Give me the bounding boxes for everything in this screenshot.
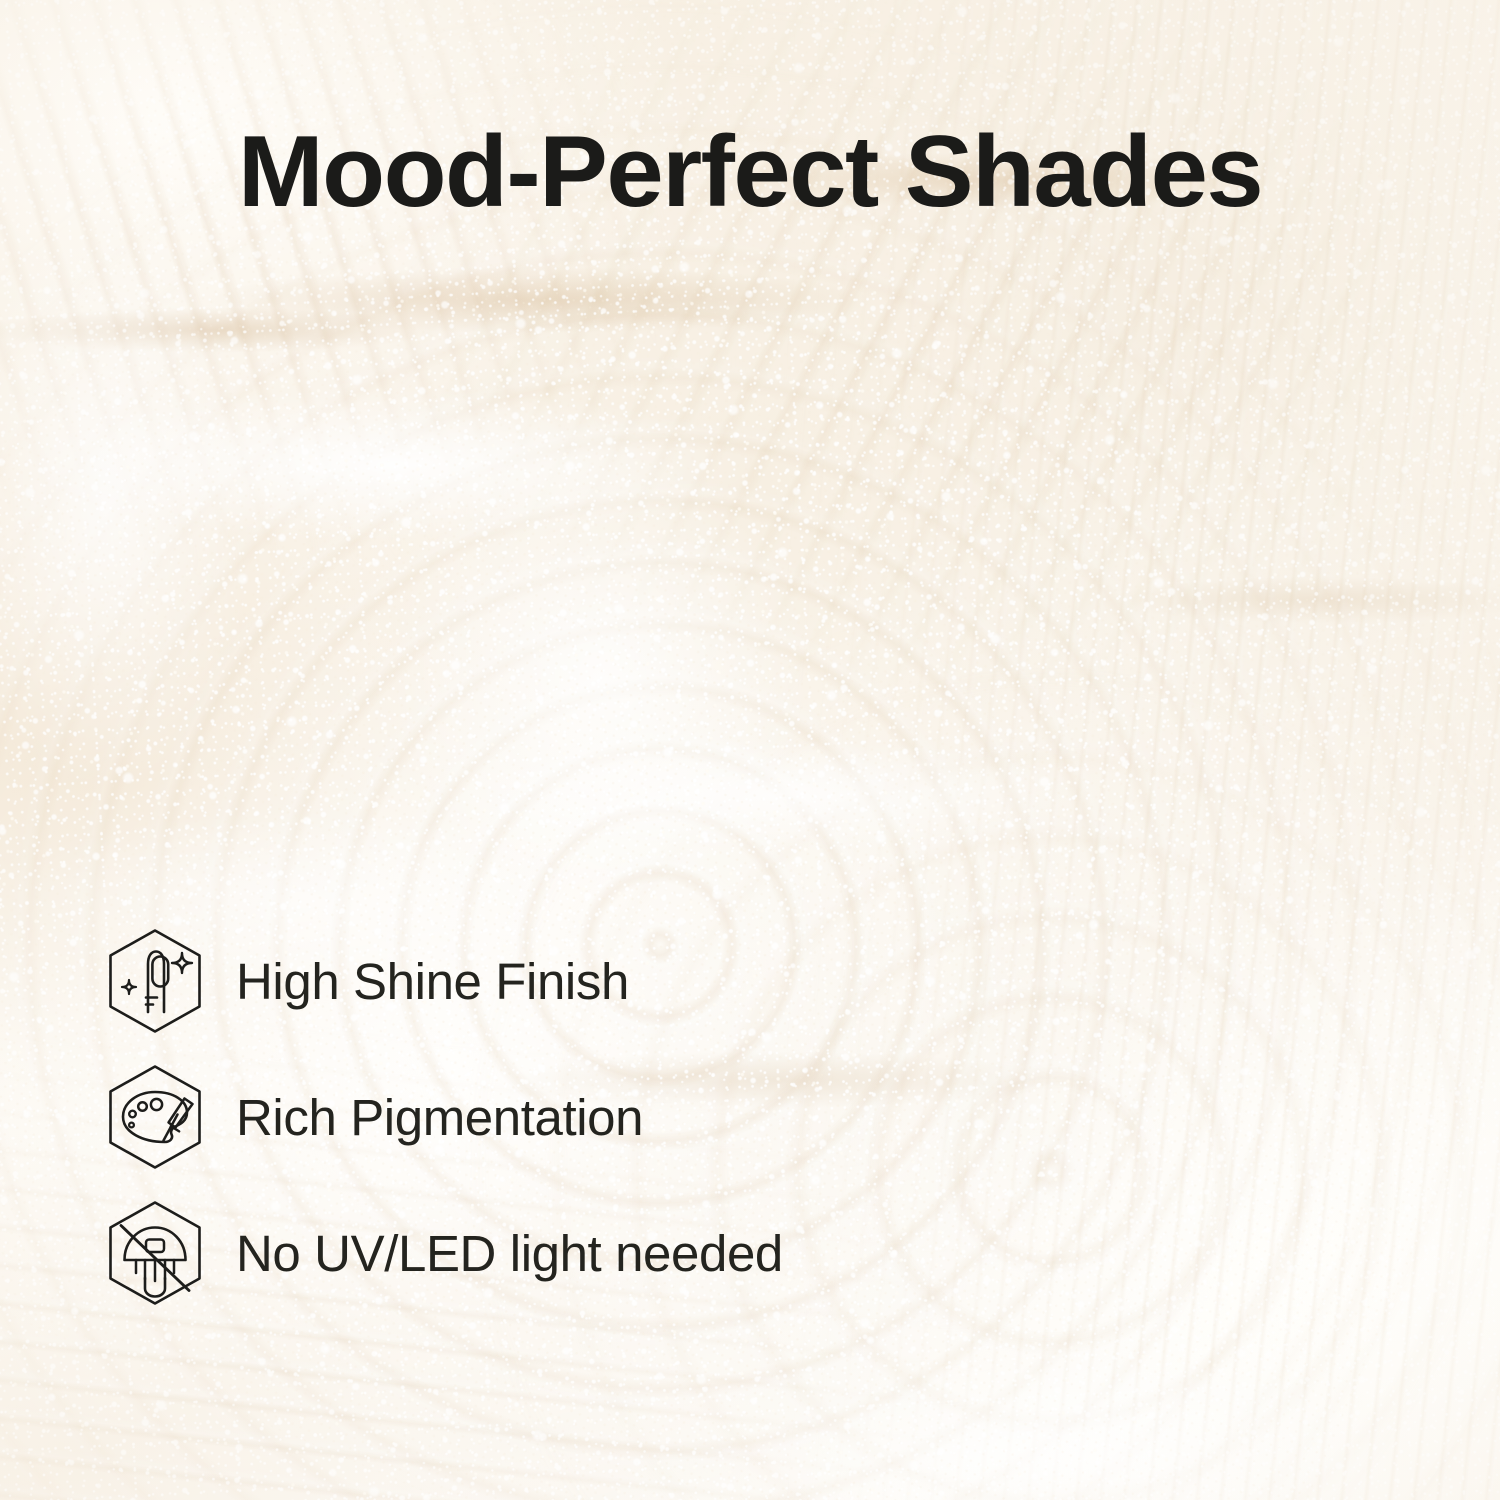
- nail-sparkle-icon: [100, 926, 210, 1036]
- feature-label: Rich Pigmentation: [236, 1092, 643, 1143]
- feature-item-no-uv-lamp: No UV/LED light needed: [100, 1197, 783, 1309]
- page-title: Mood-Perfect Shades: [0, 122, 1500, 223]
- feature-list: High Shine Finish: [100, 925, 783, 1309]
- paint-palette-icon: [100, 1062, 210, 1172]
- product-feature-banner: Mood-Perfect Shades: [0, 0, 1500, 1500]
- no-uv-lamp-icon: [100, 1198, 210, 1308]
- feature-item-high-shine: High Shine Finish: [100, 925, 783, 1037]
- feature-label: High Shine Finish: [236, 956, 629, 1007]
- feature-label: No UV/LED light needed: [236, 1228, 783, 1279]
- feature-item-rich-pigmentation: Rich Pigmentation: [100, 1061, 783, 1173]
